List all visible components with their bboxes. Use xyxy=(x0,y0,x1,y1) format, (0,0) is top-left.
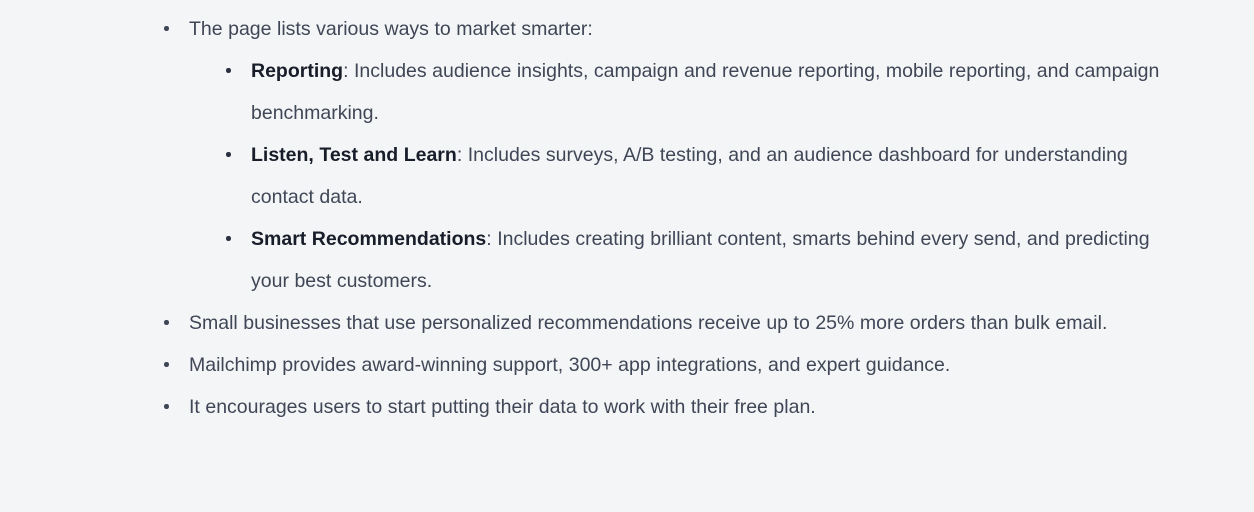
list-item-text: Small businesses that use personalized r… xyxy=(189,302,1141,344)
list-item: It encourages users to start putting the… xyxy=(161,386,1141,428)
list-item-term: Listen, Test and Learn xyxy=(251,144,457,166)
list-item-term: Reporting xyxy=(251,60,343,82)
list-item: Mailchimp provides award-winning support… xyxy=(161,344,1141,386)
summary-page: The page lists various ways to market sm… xyxy=(0,0,1254,512)
bullet-dot-icon xyxy=(164,26,169,31)
bullet-dot-icon xyxy=(164,320,169,325)
list-item-description: Includes audience insights, campaign and… xyxy=(251,60,1159,124)
bullet-dot-icon xyxy=(226,236,231,241)
bullet-dot-icon xyxy=(226,68,231,73)
nested-bullet-list: Reporting: Includes audience insights, c… xyxy=(223,50,1169,302)
nested-list-item-text: Smart Recommendations: Includes creating… xyxy=(251,218,1169,302)
list-item: Small businesses that use personalized r… xyxy=(161,302,1141,344)
list-item: Smart Recommendations: Includes creating… xyxy=(223,218,1169,302)
list-item-separator: : xyxy=(343,60,354,82)
list-item-text: It encourages users to start putting the… xyxy=(189,386,1141,428)
list-item: Reporting: Includes audience insights, c… xyxy=(223,50,1169,134)
bullet-dot-icon xyxy=(164,404,169,409)
nested-list-item-text: Reporting: Includes audience insights, c… xyxy=(251,50,1169,134)
bullet-dot-icon xyxy=(226,152,231,157)
list-item: The page lists various ways to market sm… xyxy=(161,8,1141,302)
list-item-text: The page lists various ways to market sm… xyxy=(189,8,1141,50)
list-item: Listen, Test and Learn: Includes surveys… xyxy=(223,134,1169,218)
list-item-text: Mailchimp provides award-winning support… xyxy=(189,344,1141,386)
list-item-separator: : xyxy=(457,144,468,166)
summary-bullet-list: The page lists various ways to market sm… xyxy=(161,8,1141,428)
bullet-dot-icon xyxy=(164,362,169,367)
list-item-separator: : xyxy=(486,228,497,250)
nested-list-item-text: Listen, Test and Learn: Includes surveys… xyxy=(251,134,1169,218)
list-item-term: Smart Recommendations xyxy=(251,228,486,250)
